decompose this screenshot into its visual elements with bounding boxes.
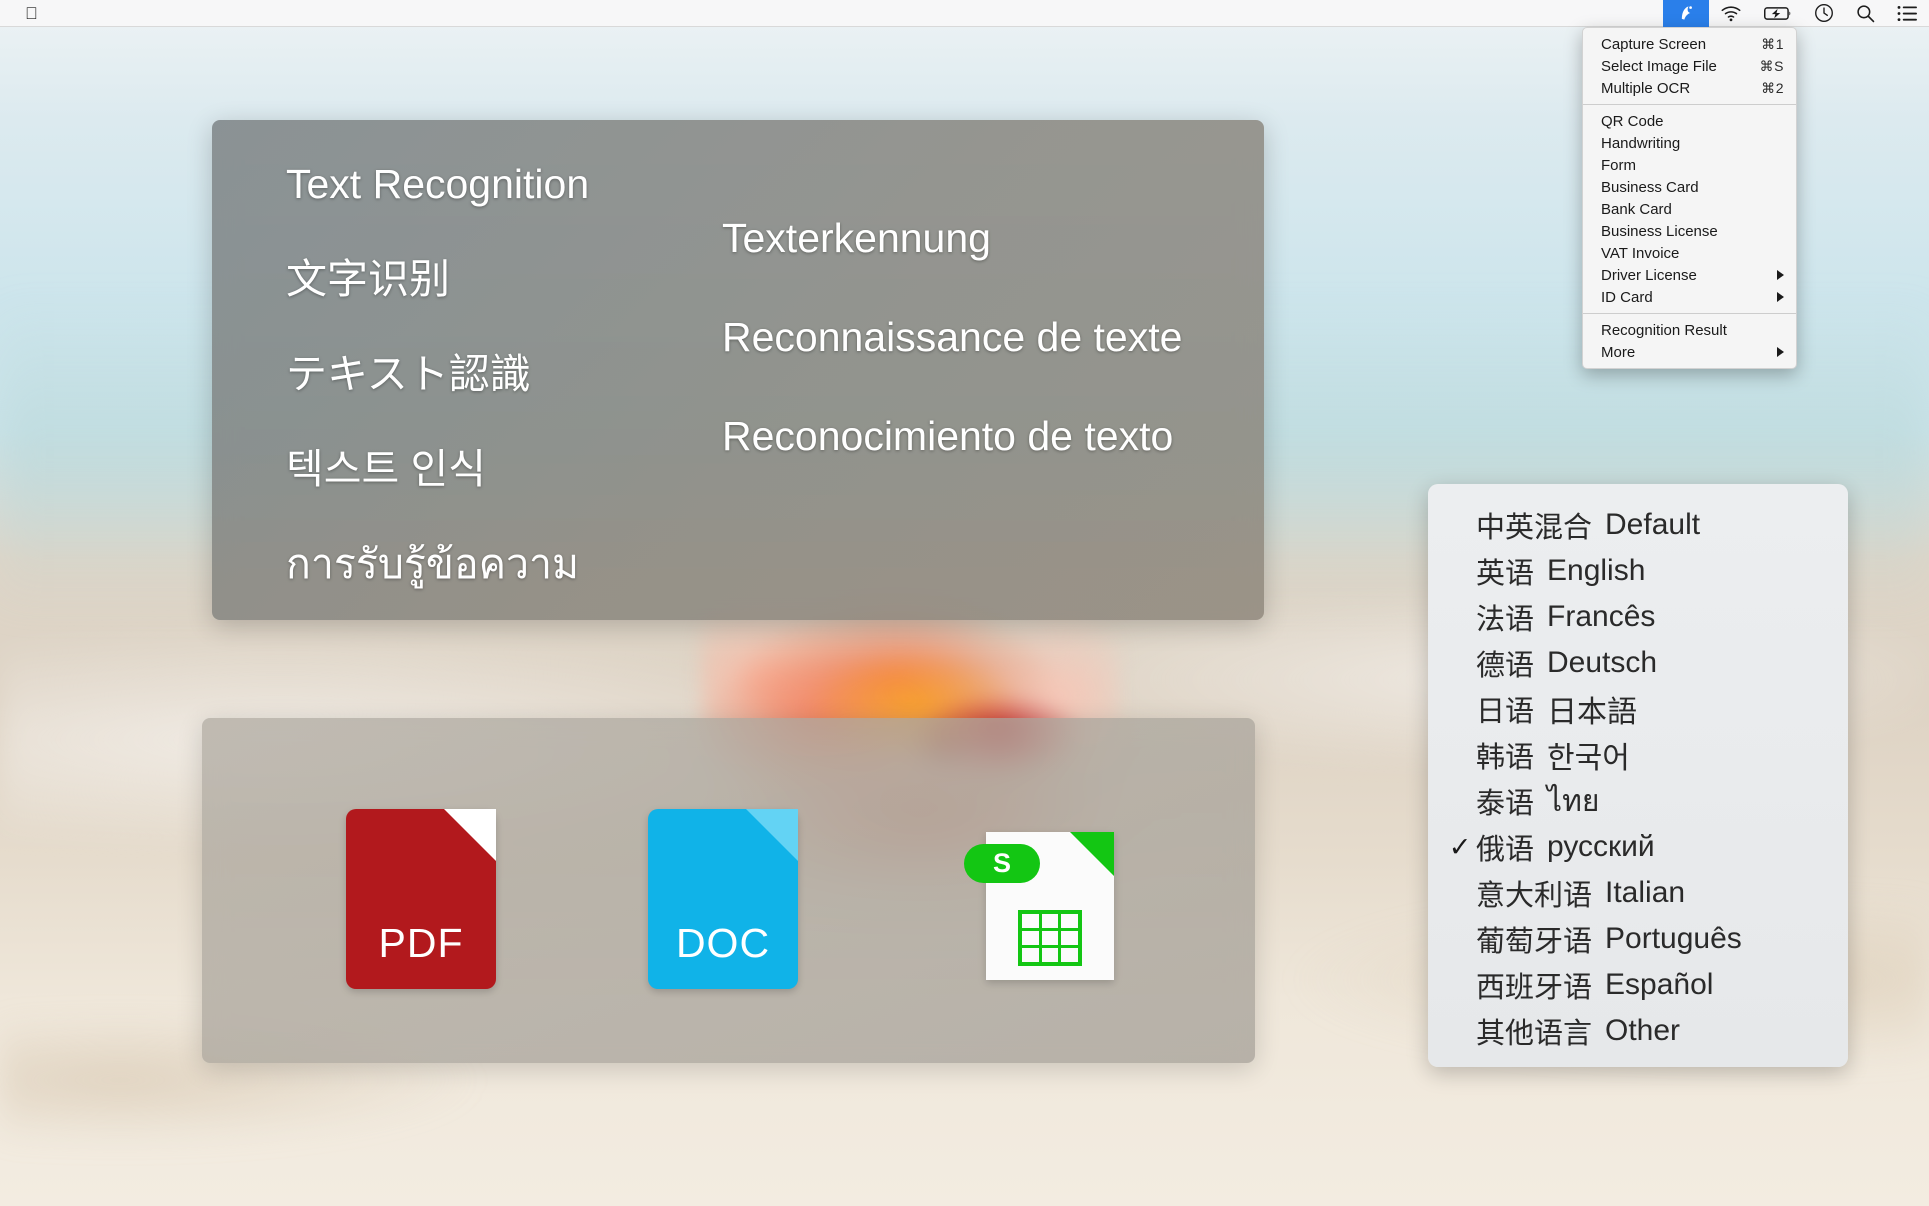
menu-item-multiple-ocr[interactable]: Multiple OCR ⌘2 [1583, 77, 1796, 99]
menu-item-label: Business Card [1601, 179, 1784, 196]
wifi-status-icon[interactable] [1709, 0, 1753, 27]
menu-item-label: Recognition Result [1601, 322, 1784, 339]
menu-item-form[interactable]: Form [1583, 154, 1796, 176]
language-name-cn: 英语 [1476, 550, 1534, 592]
menu-item-vat-invoice[interactable]: VAT Invoice [1583, 242, 1796, 264]
language-name-cn: 中英混合 [1476, 504, 1592, 546]
language-name-local: Francês [1547, 600, 1655, 634]
language-name-cn: 德语 [1476, 642, 1534, 684]
app-dropdown-menu[interactable]: Capture Screen ⌘1 Select Image File ⌘S M… [1582, 27, 1797, 369]
menu-group-document-types: QR Code Handwriting Form Business Card B… [1583, 110, 1796, 308]
language-name-cn: 日语 [1476, 688, 1534, 730]
language-item-korean[interactable]: 韩语 한국어 [1428, 732, 1848, 778]
language-item-portuguese[interactable]: 葡萄牙语 Português [1428, 916, 1848, 962]
language-item-german[interactable]: 德语 Deutsch [1428, 640, 1848, 686]
menu-item-label: Handwriting [1601, 135, 1784, 152]
language-item-japanese[interactable]: 日语 日本語 [1428, 686, 1848, 732]
language-item-english[interactable]: 英语 English [1428, 548, 1848, 594]
text-line-german: Texterkennung [722, 216, 1182, 261]
chevron-right-icon [1777, 292, 1784, 302]
doc-label: DOC [648, 920, 798, 967]
menu-item-recognition-result[interactable]: Recognition Result [1583, 319, 1796, 341]
language-name-local: Deutsch [1547, 646, 1657, 680]
menu-item-label: Multiple OCR [1601, 80, 1761, 97]
menu-item-label: VAT Invoice [1601, 245, 1784, 262]
menu-item-label: Driver License [1601, 267, 1769, 284]
text-line-chinese: 文字识别 [286, 257, 589, 302]
text-line-french: Reconnaissance de texte [722, 315, 1182, 360]
menu-item-qr-code[interactable]: QR Code [1583, 110, 1796, 132]
language-name-cn: 泰语 [1476, 780, 1534, 822]
language-item-spanish[interactable]: 西班牙语 Español [1428, 962, 1848, 1008]
menu-item-label: Capture Screen [1601, 36, 1761, 53]
pdf-file-icon[interactable]: PDF [346, 809, 496, 989]
menu-item-business-card[interactable]: Business Card [1583, 176, 1796, 198]
menu-item-business-license[interactable]: Business License [1583, 220, 1796, 242]
chevron-right-icon [1777, 347, 1784, 357]
doc-file-icon[interactable]: DOC [648, 809, 798, 989]
clock-status-icon[interactable] [1803, 0, 1845, 27]
wifi-icon [1720, 5, 1742, 22]
language-name-local: Other [1605, 1014, 1680, 1048]
spreadsheet-badge: S [964, 844, 1040, 883]
list-icon [1897, 5, 1918, 22]
menu-bar:  [0, 0, 1929, 27]
language-name-cn: 意大利语 [1476, 872, 1592, 914]
menu-group-results: Recognition Result More [1583, 319, 1796, 363]
menu-item-driver-license[interactable]: Driver License [1583, 264, 1796, 286]
control-center-icon[interactable] [1886, 0, 1929, 27]
language-picker-panel[interactable]: 中英混合 Default 英语 English 法语 Francês 德语 De… [1428, 484, 1848, 1067]
menu-item-shortcut: ⌘2 [1761, 80, 1784, 97]
menu-divider [1583, 313, 1796, 314]
text-recognition-panel: Text Recognition 文字识别 テキスト認識 텍스트 인식 การร… [212, 120, 1264, 620]
menu-item-shortcut: ⌘S [1760, 58, 1784, 75]
text-line-thai: การรับรู้ข้อความ [286, 542, 589, 587]
language-name-cn: 韩语 [1476, 734, 1534, 776]
menu-item-label: Select Image File [1601, 58, 1760, 75]
battery-status-icon[interactable] [1753, 0, 1803, 27]
menu-group-capture: Capture Screen ⌘1 Select Image File ⌘S M… [1583, 33, 1796, 99]
menu-item-label: Bank Card [1601, 201, 1784, 218]
language-item-french[interactable]: 法语 Francês [1428, 594, 1848, 640]
menu-item-label: ID Card [1601, 289, 1769, 306]
menu-item-label: QR Code [1601, 113, 1784, 130]
language-item-italian[interactable]: 意大利语 Italian [1428, 870, 1848, 916]
menu-item-select-image-file[interactable]: Select Image File ⌘S [1583, 55, 1796, 77]
language-name-cn: 法语 [1476, 596, 1534, 638]
menu-item-shortcut: ⌘1 [1761, 36, 1784, 53]
language-name-cn: 西班牙语 [1476, 964, 1592, 1006]
checkmark-icon: ✓ [1444, 834, 1476, 861]
sheet-fold-corner-icon [1070, 832, 1114, 876]
language-name-local: Português [1605, 922, 1742, 956]
ocr-app-icon [1676, 3, 1696, 23]
text-panel-right-column: Texterkennung Reconnaissance de texte Re… [722, 216, 1182, 459]
language-name-local: 한국어 [1547, 733, 1630, 777]
language-name-local: русский [1547, 830, 1655, 864]
menu-item-label: Form [1601, 157, 1784, 174]
language-name-cn: 葡萄牙语 [1476, 918, 1592, 960]
menu-item-more[interactable]: More [1583, 341, 1796, 363]
text-line-spanish: Reconocimiento de texto [722, 414, 1182, 459]
menu-item-id-card[interactable]: ID Card [1583, 286, 1796, 308]
language-name-local: Italian [1605, 876, 1685, 910]
language-item-default[interactable]: 中英混合 Default [1428, 502, 1848, 548]
menu-item-capture-screen[interactable]: Capture Screen ⌘1 [1583, 33, 1796, 55]
text-line-english: Text Recognition [286, 162, 589, 207]
battery-charging-icon [1764, 6, 1792, 21]
app-status-icon[interactable] [1663, 0, 1709, 27]
text-panel-left-column: Text Recognition 文字识别 テキスト認識 텍스트 인식 การร… [286, 162, 589, 587]
menu-item-bank-card[interactable]: Bank Card [1583, 198, 1796, 220]
clock-icon [1814, 3, 1834, 23]
language-name-cn: 其他语言 [1476, 1010, 1592, 1052]
chevron-right-icon [1777, 270, 1784, 280]
text-line-korean: 텍스트 인식 [286, 447, 589, 492]
spreadsheet-grid-icon [1018, 910, 1082, 966]
apple-menu-button[interactable]:  [14, 0, 49, 27]
language-name-cn: 俄语 [1476, 826, 1534, 868]
file-formats-panel: PDF DOC S [202, 718, 1255, 1063]
spotlight-search-icon[interactable] [1845, 0, 1886, 27]
menu-item-handwriting[interactable]: Handwriting [1583, 132, 1796, 154]
pdf-label: PDF [346, 920, 496, 967]
language-name-local: ไทย [1547, 778, 1599, 825]
language-item-other[interactable]: 其他语言 Other [1428, 1008, 1848, 1054]
language-name-local: English [1547, 554, 1645, 588]
language-name-local: Default [1605, 508, 1700, 542]
language-name-local: Español [1605, 968, 1713, 1002]
menu-item-label: Business License [1601, 223, 1784, 240]
menu-item-label: More [1601, 344, 1769, 361]
text-line-japanese: テキスト認識 [286, 352, 589, 397]
apple-logo-icon:  [25, 5, 38, 22]
spreadsheet-file-icon[interactable]: S [986, 832, 1114, 980]
language-item-russian[interactable]: ✓ 俄语 русский [1428, 824, 1848, 870]
language-item-thai[interactable]: 泰语 ไทย [1428, 778, 1848, 824]
menu-divider [1583, 104, 1796, 105]
language-name-local: 日本語 [1547, 687, 1637, 731]
search-icon [1856, 4, 1875, 23]
